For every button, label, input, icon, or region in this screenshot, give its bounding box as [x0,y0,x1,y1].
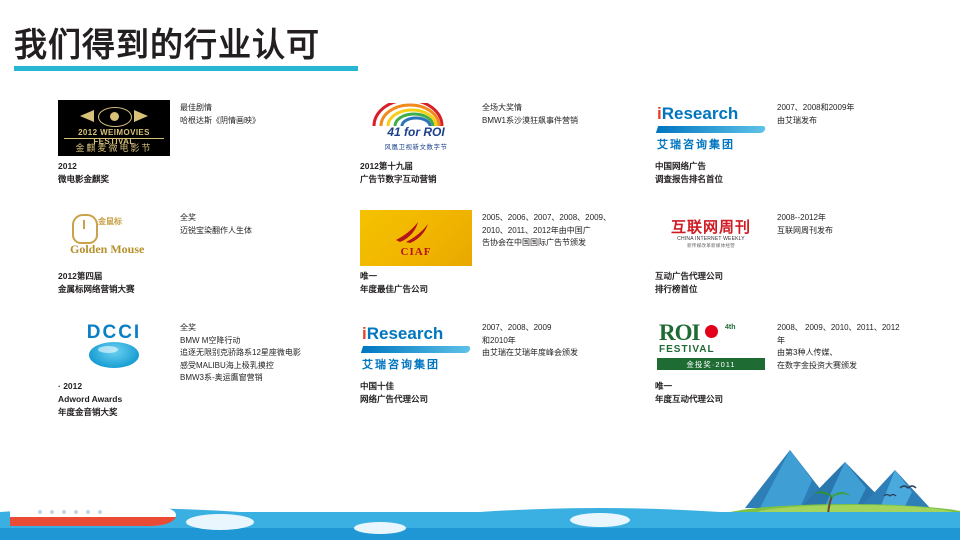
caption-line: 调査报告排名首位 [655,173,845,186]
logo-text-line3: 金投奖·2011 [657,359,765,370]
award-caption: 中国十佳 网络广告代理公司 [360,380,550,406]
description-line: 哈根达斯《阴情画映》 [180,115,355,128]
weimovies-festival-logo: 2012 WEIMOVIES FESTIVAL 金麒麦微电影节 [58,100,170,156]
dcci-logo: DCCI [58,320,170,376]
description-line: 2008、 2009、2010、2011、2012 [777,322,960,335]
roi-festival-logo: ROI 4th FESTIVAL 金投奖·2011 [655,320,767,376]
award-caption: 中国网络广告 调査报告排名首位 [655,160,845,186]
description-line: BMW M空降行动 [180,335,355,348]
caption-line: 互动广告代理公司 [655,270,845,283]
ciaf-logo: CIAF [360,210,472,266]
golden-mouse-logo: 金鼠标 Golden Mouse [58,210,170,266]
logo-text-line1: CIAF [360,246,472,258]
description-line: 全场大奖情 [482,102,657,115]
caption-line: 2012第四届 [58,270,248,283]
description-line: 最佳剧情 [180,102,355,115]
logo-wrap: 金鼠标 Golden Mouse [58,210,170,266]
description-line: 年 [777,335,960,348]
caption-line: 年度金音销大奖 [58,406,248,419]
description-line: 由艾瑞发布 [777,115,952,128]
award-caption: 唯一 年度最佳广告公司 [360,270,550,296]
award-description: 全奖 迈锐宝染翻作人生体 [180,212,355,237]
airplane-icon [10,488,176,526]
award-caption: 互动广告代理公司 排行榜首位 [655,270,845,296]
scene-svg [0,430,960,540]
caption-line: 2012第十九届 [360,160,550,173]
awards-row: 金鼠标 Golden Mouse 2012第四届 金属标网络营销大赛 全奖 迈锐… [0,210,960,320]
award-description: 全奖 BMW M空降行动 追逐无限别克骄路系12星座微电影 感受MALIBU海上… [180,322,355,385]
title-underline [14,66,358,71]
logo-text-line1: ROI [659,320,699,346]
description-line: BMW1系沙漠狂飙事件营销 [482,115,657,128]
logo-divider [64,138,164,139]
swoosh-icon [656,126,766,133]
logo-wrap: iResearch 艾瑞咨询集团 [655,100,767,156]
caption-line: 年度互动代理公司 [655,393,845,406]
description-line: 2010、2011、2012年由中国广 [482,225,672,238]
award-caption: · 2012 Adword Awards 年度金音销大奖 [58,380,248,419]
logo-wrap: 41 for ROI 风凰卫视新文数字节 [360,100,472,156]
award-description: 全场大奖情 BMW1系沙漠狂飙事件营销 [482,102,657,127]
description-line: 告协会在中国国际广告节颁发 [482,237,672,250]
description-line: 迈锐宝染翻作人生体 [180,225,355,238]
footer-illustration [0,430,960,540]
logo-text-line2: 艾瑞咨询集团 [657,136,735,152]
award-caption: 2012第十九届 广告节数字互动营销 [360,160,550,186]
logo-text-line1: 金鼠标 [98,216,122,227]
caption-line: Adword Awards [58,393,248,406]
awards-grid: 2012 WEIMOVIES FESTIVAL 金麒麦微电影节 2012 微电影… [0,100,960,430]
award-description: 2005、2006、2007、2008、2009、 2010、2011、2012… [482,212,672,250]
red-dot-icon [705,325,718,338]
mouse-icon [72,214,98,244]
logo-text-line2: Golden Mouse [70,242,144,257]
film-eye-icon [98,107,132,127]
phoenix-icon [394,218,430,244]
logo-text-line1: 41 for ROI [360,125,472,139]
wing-right-icon [134,110,148,122]
logo-text-line3: 新传媒改革新媒体经营 [655,243,767,249]
caption-line: 中国十佳 [360,380,550,393]
caption-line: 年度最佳广告公司 [360,283,550,296]
logo-text-line2: 艾瑞咨询集团 [362,356,440,372]
award-caption: 2012第四届 金属标网络营销大赛 [58,270,248,296]
awards-row: DCCI · 2012 Adword Awards 年度金音销大奖 全奖 BMW… [0,320,960,430]
caption-line: 唯一 [360,270,550,283]
logo-text-line2: FESTIVAL [659,344,715,355]
logo-text-line1: iResearch [657,104,738,124]
description-line: 由艾瑞在艾瑞年度峰会颁发 [482,347,672,360]
logo-wrap: DCCI [58,320,170,376]
china-internet-weekly-logo: 互联网周刊 CHINA INTERNET WEEKLY 新传媒改革新媒体经营 [655,210,767,266]
award-description: 最佳剧情 哈根达斯《阴情画映》 [180,102,355,127]
caption-line: 中国网络广告 [655,160,845,173]
caption-line: 网络广告代理公司 [360,393,550,406]
description-line: 由第3种人传媒、 [777,347,960,360]
caption-line: 广告节数字互动营销 [360,173,550,186]
41-for-roi-logo: 41 for ROI 风凰卫视新文数字节 [360,100,472,156]
description-line: 2008--2012年 [777,212,952,225]
logo-wrap: ROI 4th FESTIVAL 金投奖·2011 [655,320,767,376]
logo-wrap: 互联网周刊 CHINA INTERNET WEEKLY 新传媒改革新媒体经营 [655,210,767,266]
page-title: 我们得到的行业认可 [14,18,320,66]
sphere-icon [89,342,139,368]
logo-text-line2: 金麒麦微电影节 [58,141,170,154]
description-line: 感受MALIBU海上极乳摸控 [180,360,355,373]
logo-text-line4: 4th [725,324,736,331]
logo-wrap: CIAF [360,210,472,266]
description-line: 2007、2008和2009年 [777,102,952,115]
award-description: 2007、2008和2009年 由艾瑞发布 [777,102,952,127]
description-line: 全奖 [180,322,355,335]
description-line: 2005、2006、2007、2008、2009、 [482,212,672,225]
caption-line: 唯一 [655,380,845,393]
logo-text-line1: 互联网周刊 [655,216,767,237]
award-description: 2008、 2009、2010、2011、2012 年 由第3种人传媒、 在数字… [777,322,960,372]
award-description: 2007、2008、2009 和2010年 由艾瑞在艾瑞年度峰会颁发 [482,322,672,360]
description-line: 追逐无限别克骄路系12星座微电影 [180,347,355,360]
description-line: 在数字金投资大赛颁发 [777,360,960,373]
description-line: 和2010年 [482,335,672,348]
award-description: 2008--2012年 互联网周刊发布 [777,212,952,237]
iresearch-logo: iResearch 艾瑞咨询集团 [360,320,472,376]
logo-wrap: 2012 WEIMOVIES FESTIVAL 金麒麦微电影节 [58,100,170,156]
awards-row: 2012 WEIMOVIES FESTIVAL 金麒麦微电影节 2012 微电影… [0,100,960,210]
description-line: 2007、2008、2009 [482,322,672,335]
logo-text-line1: DCCI [58,322,170,344]
award-caption: 唯一 年度互动代理公司 [655,380,845,406]
caption-line: 微电影金麒奖 [58,173,248,186]
logo-text-line1: iResearch [362,324,443,344]
logo-banner: 金投奖·2011 [657,358,765,370]
description-line: BMW3系-奥运鷹窗营销 [180,372,355,385]
description-line: 互联网周刊发布 [777,225,952,238]
caption-line: 2012 [58,160,248,173]
iresearch-logo: iResearch 艾瑞咨询集团 [655,100,767,156]
logo-text-line2: 风凰卫视新文数字节 [360,141,472,151]
rainbow-arc-icon [366,103,466,127]
logo-text-line2: CHINA INTERNET WEEKLY [655,236,767,242]
swoosh-icon [361,346,471,353]
wing-left-icon [80,110,94,122]
caption-line: 排行榜首位 [655,283,845,296]
logo-wrap: iResearch 艾瑞咨询集团 [360,320,472,376]
caption-line: 金属标网络营销大赛 [58,283,248,296]
award-caption: 2012 微电影金麒奖 [58,160,248,186]
description-line: 全奖 [180,212,355,225]
